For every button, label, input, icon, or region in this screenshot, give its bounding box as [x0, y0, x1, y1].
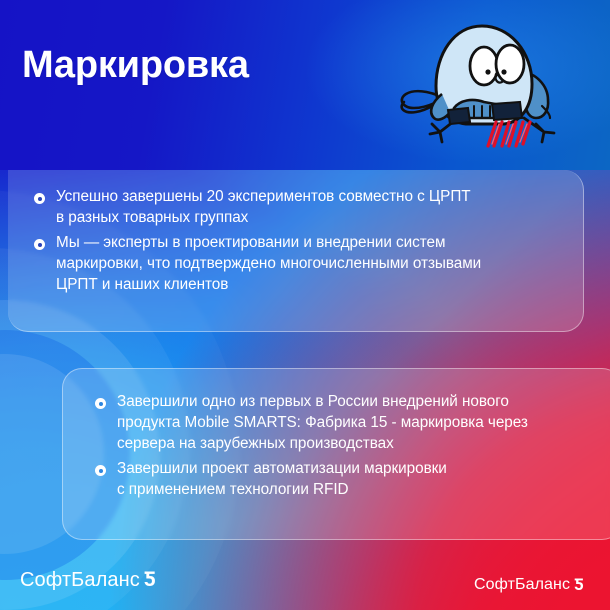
slide-header: Маркировка [0, 0, 610, 170]
blue-blob-mascot-icon [392, 14, 572, 164]
logo-text: СофтБаланс [474, 576, 570, 594]
list-item: Завершили проект автоматизации маркировк… [95, 458, 600, 500]
bullet-ring-icon [95, 465, 106, 476]
bullet-ring-icon [34, 193, 45, 204]
bullet-ring-icon [34, 239, 45, 250]
logo-s-mark-icon: Ƽ [144, 568, 156, 592]
logo-text: СофтБаланс [20, 569, 140, 592]
bullet-text: Завершили одно из первых в России внедре… [117, 391, 528, 454]
logo-s-mark-icon: Ƽ [574, 575, 583, 595]
bullet-text: Успешно завершены 20 экспериментов совме… [56, 186, 471, 228]
bullet-ring-icon [95, 398, 106, 409]
content-card-projects: Завершили одно из первых в России внедре… [62, 368, 610, 540]
list-item: Завершили одно из первых в России внедре… [95, 391, 600, 454]
page-title: Маркировка [22, 44, 249, 87]
bullet-text: Мы — эксперты в проектировании и внедрен… [56, 232, 481, 295]
logo-softbalans-bottom-right: СофтБаланс Ƽ [474, 575, 584, 595]
presentation-slide: Маркировка [0, 0, 610, 610]
logo-softbalans-bottom-left: СофтБаланс Ƽ [20, 568, 156, 592]
bullet-text: Завершили проект автоматизации маркировк… [117, 458, 447, 500]
content-card-experiments: Успешно завершены 20 экспериментов совме… [8, 170, 584, 332]
list-item: Успешно завершены 20 экспериментов совме… [34, 186, 561, 228]
bullet-list: Успешно завершены 20 экспериментов совме… [8, 170, 583, 309]
bullet-list: Завершили одно из первых в России внедре… [63, 369, 610, 514]
list-item: Мы — эксперты в проектировании и внедрен… [34, 232, 561, 295]
